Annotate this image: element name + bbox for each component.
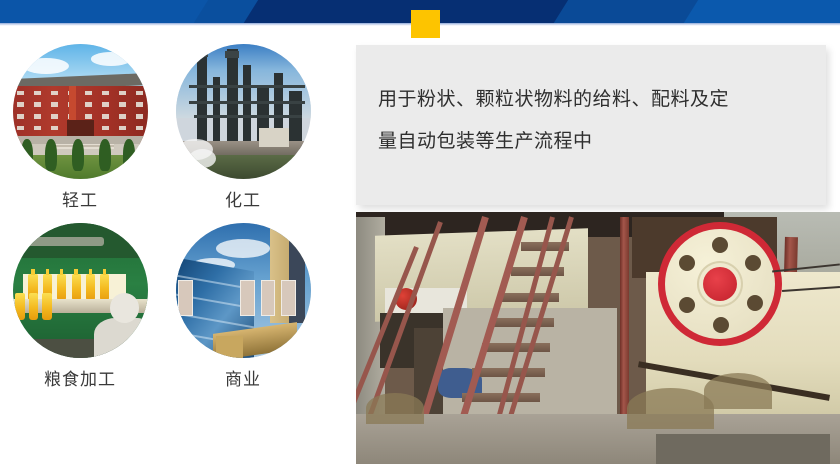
bottle-neck xyxy=(89,269,92,274)
flywheel-hole xyxy=(745,255,761,271)
bottle-neck xyxy=(60,269,63,274)
dry-brush xyxy=(366,393,424,423)
window xyxy=(51,91,59,95)
grain-processing-image xyxy=(13,223,148,358)
industry-item-chemical[interactable]: 化工 xyxy=(168,44,318,211)
window xyxy=(119,91,127,95)
window xyxy=(85,91,93,95)
worker-head xyxy=(110,293,140,323)
bottle-conveyor-panel xyxy=(23,274,126,301)
oil-bottle xyxy=(15,293,24,320)
description-panel: 用于粉状、颗粒状物料的给料、配料及定 量自动包装等生产流程中 xyxy=(356,45,826,205)
industry-label-grain: 粮食加工 xyxy=(5,370,155,390)
bottle-neck xyxy=(103,269,106,274)
window xyxy=(34,126,42,130)
window xyxy=(17,126,25,130)
tree xyxy=(21,139,33,171)
flywheel-hole xyxy=(679,255,695,271)
flywheel-face xyxy=(665,229,775,339)
window-row xyxy=(13,91,148,95)
industry-label-light: 轻工 xyxy=(5,191,155,211)
oil-bottle xyxy=(100,274,109,301)
window xyxy=(17,114,25,118)
description-line-1: 用于粉状、颗粒状物料的给料、配料及定 xyxy=(378,79,800,121)
window xyxy=(136,102,144,106)
window xyxy=(119,102,127,106)
flywheel-hub xyxy=(703,267,737,301)
window xyxy=(51,126,59,130)
billboard xyxy=(281,280,296,316)
tree xyxy=(123,139,135,171)
cloud-icon xyxy=(216,239,270,258)
industry-grid: 轻工 化工 xyxy=(0,38,340,458)
jaw-crusher-photo xyxy=(356,212,840,464)
window xyxy=(34,114,42,118)
industry-item-grain[interactable]: 粮食加工 xyxy=(5,223,155,390)
banner-diagonal-right-2 xyxy=(679,0,840,24)
window xyxy=(136,91,144,95)
concrete-slab xyxy=(656,434,830,464)
distillation-tower xyxy=(227,49,238,149)
industry-label-commerce: 商业 xyxy=(168,370,318,390)
window xyxy=(102,102,110,106)
flywheel-hole xyxy=(747,295,763,311)
window xyxy=(119,126,127,130)
tower-cap xyxy=(196,49,208,57)
pipe xyxy=(189,85,305,88)
plant-building xyxy=(259,128,289,147)
billboard xyxy=(178,280,193,316)
billboard xyxy=(261,280,276,316)
commercial-building-image xyxy=(176,223,311,358)
window xyxy=(17,91,25,95)
tree xyxy=(99,139,111,171)
yellow-accent-square xyxy=(411,10,440,38)
distillation-tower xyxy=(243,65,251,149)
oil-bottle xyxy=(72,274,81,301)
cloud-icon xyxy=(91,52,132,66)
dry-brush xyxy=(704,373,772,408)
window xyxy=(51,114,59,118)
chemical-plant-image xyxy=(176,44,311,179)
building-base xyxy=(216,336,243,358)
worker-body xyxy=(94,318,148,359)
window-row xyxy=(13,114,148,118)
tree xyxy=(45,139,57,171)
dry-brush xyxy=(627,388,714,428)
crusher-flywheel xyxy=(658,222,782,346)
window xyxy=(85,114,93,118)
bottle-neck xyxy=(31,269,34,274)
bottle-neck xyxy=(46,269,49,274)
refinery-silhouette xyxy=(176,49,311,149)
light-industry-building-image xyxy=(13,44,148,179)
oil-bottle xyxy=(57,274,66,301)
window xyxy=(136,126,144,130)
window xyxy=(17,102,25,106)
window xyxy=(119,114,127,118)
industry-item-light[interactable]: 轻工 xyxy=(5,44,155,211)
window xyxy=(136,114,144,118)
oil-bottle xyxy=(29,293,38,320)
tower-cap xyxy=(225,51,239,58)
flywheel-hole xyxy=(679,297,695,313)
flywheel-hole xyxy=(713,317,729,333)
window xyxy=(51,102,59,106)
window-row xyxy=(13,102,148,106)
industry-label-chemical: 化工 xyxy=(168,191,318,211)
window xyxy=(102,114,110,118)
description-line-2: 量自动包装等生产流程中 xyxy=(378,121,800,163)
tree xyxy=(72,139,84,171)
industry-item-commerce[interactable]: 商业 xyxy=(168,223,318,390)
window xyxy=(34,91,42,95)
oil-bottle xyxy=(86,274,95,301)
flywheel-hole xyxy=(712,237,728,253)
window xyxy=(102,91,110,95)
window xyxy=(85,102,93,106)
pipe xyxy=(194,115,302,118)
window xyxy=(34,102,42,106)
oil-bottle xyxy=(42,293,51,320)
cloud-icon xyxy=(23,58,69,74)
billboard xyxy=(240,280,255,316)
window xyxy=(102,126,110,130)
pipe xyxy=(189,101,305,104)
machine-rail xyxy=(23,237,104,246)
bottle-neck xyxy=(74,269,77,274)
